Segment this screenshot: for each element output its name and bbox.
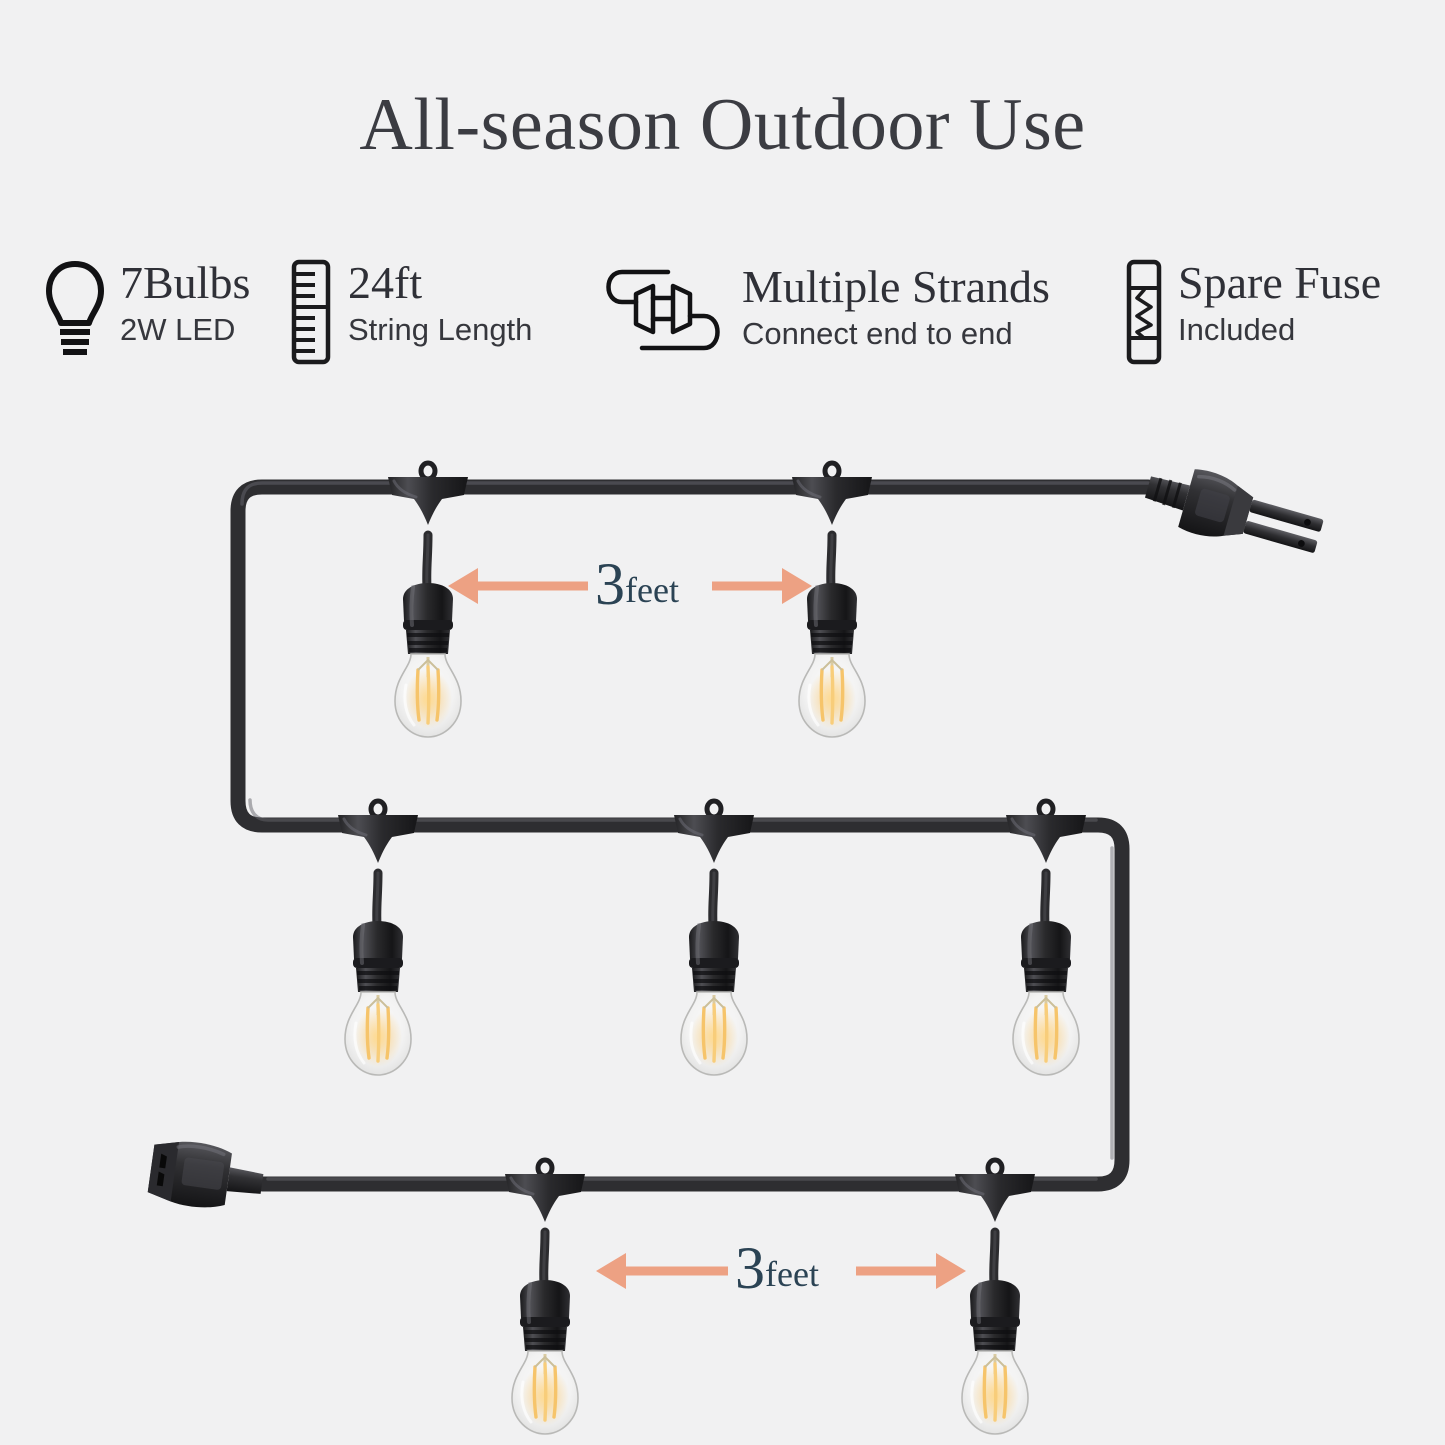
dimension-label-top: 3feet [595, 554, 679, 614]
bulb-assembly [792, 463, 872, 737]
female-socket-end [147, 1137, 267, 1216]
bulb-assembly [955, 1160, 1035, 1434]
male-plug-end [1139, 456, 1328, 567]
dimension-label-bottom: 3feet [735, 1238, 819, 1298]
bulb-assembly [388, 463, 468, 737]
bulb-assembly [505, 1160, 585, 1434]
string-light-layout-diagram [0, 0, 1445, 1445]
bulb-assembly [1006, 801, 1086, 1075]
dimension-top-number: 3 [595, 551, 625, 617]
bulb-assembly [674, 801, 754, 1075]
bulb-assembly [338, 801, 418, 1075]
dimension-top-unit: feet [625, 570, 679, 610]
dimension-bottom-unit: feet [765, 1254, 819, 1294]
dimension-bottom-number: 3 [735, 1235, 765, 1301]
